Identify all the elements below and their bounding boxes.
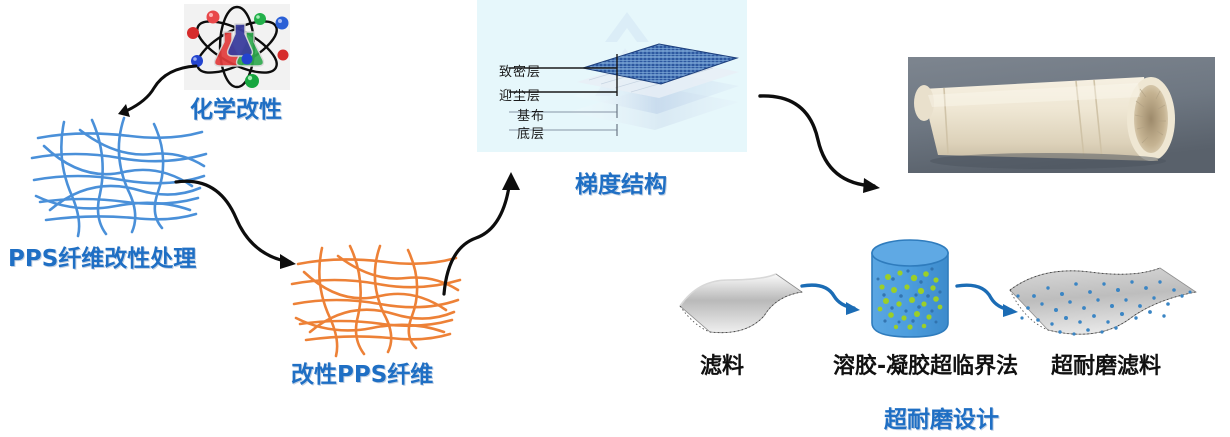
layer-label-bottom: 底层 xyxy=(517,123,545,142)
layer-label-dust-facing: 迎尘层 xyxy=(499,85,541,104)
gradient-structure-label: 梯度结构 xyxy=(575,165,667,199)
pps-fiber-treatment-label: PPS纤维改性处理 xyxy=(8,239,196,273)
layer-label-base-cloth: 基布 xyxy=(517,105,545,124)
modified-pps-fiber-label: 改性PPS纤维 xyxy=(291,355,433,389)
blue-cylinder-particles-icon xyxy=(866,235,954,343)
step-label-sol-gel-supercritical: 溶胶-凝胶超临界法 xyxy=(833,348,1018,380)
process-flow-diagram: PPS纤维改性处理 化学改性 xyxy=(0,0,1230,437)
gray-filter-sheet-icon xyxy=(676,262,806,348)
layer-label-dense: 致密层 xyxy=(499,61,541,80)
arrow-gradient-to-filter-bag xyxy=(756,88,896,196)
speckled-filter-sheet-icon xyxy=(1004,258,1204,350)
gradient-structure-panel: 致密层 迎尘层 基布 底层 xyxy=(477,0,747,152)
step-label-filter-material: 滤料 xyxy=(700,348,744,380)
arrow-sheet-to-cylinder xyxy=(800,278,866,320)
step-label-super-wear-resistant-material: 超耐磨滤料 xyxy=(1051,348,1161,380)
chemical-modification-label: 化学改性 xyxy=(190,90,282,124)
arrow-orange-fiber-to-gradient xyxy=(434,168,544,296)
filter-bag-photo xyxy=(908,57,1215,173)
bottom-process-title: 超耐磨设计 xyxy=(884,400,999,434)
